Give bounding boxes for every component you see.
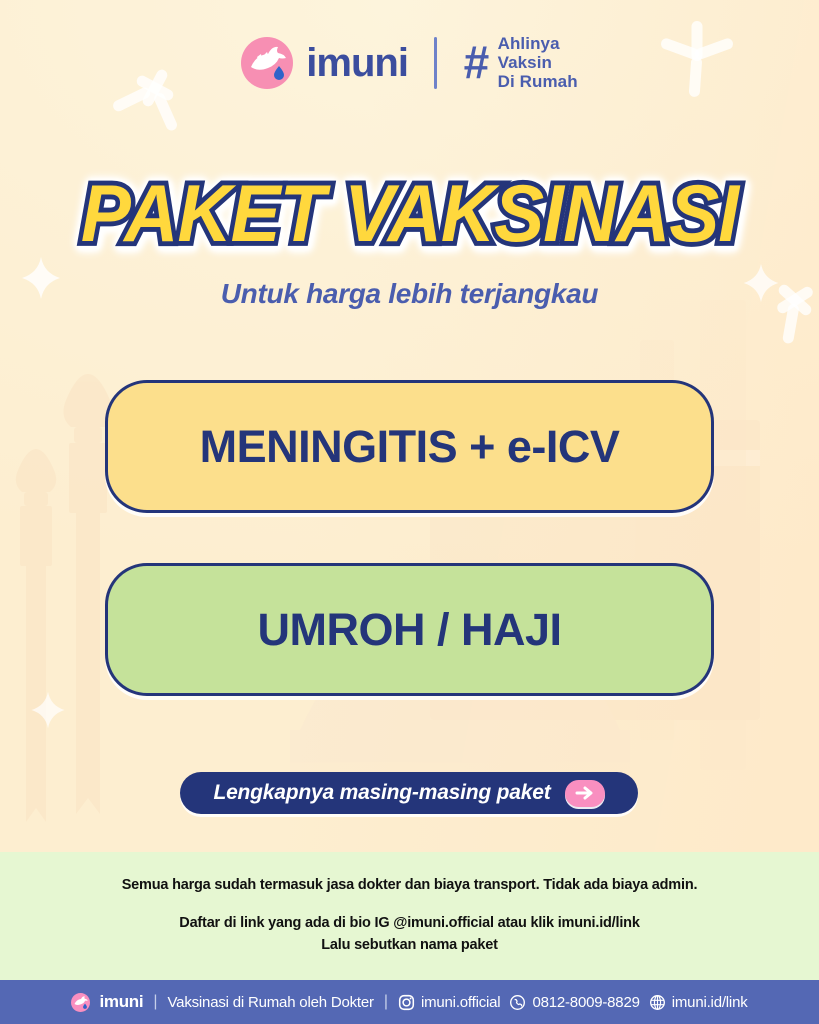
page-title: PAKET VAKSINASI (81, 173, 738, 254)
brand-logo: imuni (241, 37, 408, 89)
footer-instagram[interactable]: imuni.official (398, 994, 500, 1011)
note-line-1: Semua harga sudah termasuk jasa dokter d… (122, 875, 698, 897)
footer-separator: | (383, 993, 389, 1011)
note-band: Semua harga sudah termasuk jasa dokter d… (0, 852, 819, 980)
footer-bar: imuni | Vaksinasi di Rumah oleh Dokter |… (0, 980, 819, 1024)
tagline-block: # Ahlinya Vaksin Di Rumah (463, 34, 578, 91)
page-subtitle: Untuk harga lebih terjangkau (0, 278, 819, 310)
tagline-line-3: Di Rumah (498, 72, 578, 91)
footer-whatsapp-number: 0812-8009-8829 (532, 994, 639, 1011)
footer-website-url: imuni.id/link (672, 994, 748, 1011)
footer-whatsapp[interactable]: 0812-8009-8829 (509, 994, 639, 1011)
tagline-line-1: Ahlinya (498, 34, 578, 53)
whatsapp-icon (509, 994, 526, 1011)
package-card-meningitis[interactable]: MENINGITIS + e-ICV (105, 380, 714, 513)
note-line-3: Lalu sebutkan nama paket (321, 935, 498, 957)
globe-icon (649, 994, 666, 1011)
poster-root: imuni # Ahlinya Vaksin Di Rumah PAKET VA… (0, 0, 819, 1024)
instagram-icon (398, 994, 415, 1011)
footer-instagram-handle: imuni.official (421, 994, 500, 1011)
header-divider (434, 37, 437, 89)
footer-brand-icon (71, 993, 90, 1012)
hero-title-wrap: PAKET VAKSINASI (0, 176, 819, 251)
tagline-line-2: Vaksin (498, 53, 578, 72)
package-label: MENINGITIS + e-ICV (200, 421, 620, 473)
arrow-right-icon[interactable] (565, 780, 605, 807)
hashtag-icon: # (463, 42, 489, 83)
header-logo-row: imuni # Ahlinya Vaksin Di Rumah (0, 34, 819, 91)
cta-button[interactable]: Lengkapnya masing-masing paket (180, 772, 638, 814)
brand-name: imuni (306, 43, 408, 83)
package-card-umroh-haji[interactable]: UMROH / HAJI (105, 563, 714, 696)
footer-separator: | (152, 993, 158, 1011)
sparkle-star-icon (28, 690, 68, 730)
footer-descriptor: Vaksinasi di Rumah oleh Dokter (167, 994, 373, 1011)
stork-bird-droplet-icon (241, 37, 293, 89)
footer-brand-name: imuni (99, 992, 143, 1012)
package-label: UMROH / HAJI (257, 604, 561, 656)
tagline-text: Ahlinya Vaksin Di Rumah (498, 34, 578, 91)
footer-website[interactable]: imuni.id/link (649, 994, 748, 1011)
note-line-2: Daftar di link yang ada di bio IG @imuni… (179, 913, 639, 935)
cta-label: Lengkapnya masing-masing paket (213, 781, 550, 805)
